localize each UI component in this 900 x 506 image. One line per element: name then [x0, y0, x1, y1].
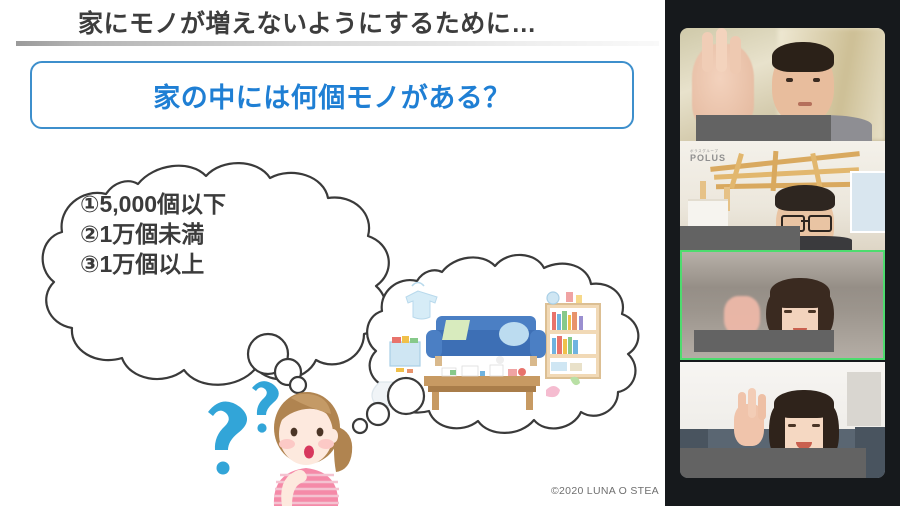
option-3: ③1万個以上	[80, 250, 380, 280]
option-1: ①5,000個以下	[80, 190, 380, 220]
participant-name-redacted	[696, 115, 831, 141]
question-box: 家の中には何個モノがある？	[30, 61, 634, 129]
title-divider	[16, 41, 659, 46]
illustration-ball	[496, 356, 504, 364]
polus-logo: ポラスグループPOLUS	[690, 150, 726, 163]
participant-name-redacted	[680, 226, 800, 250]
participant-name-redacted	[694, 330, 834, 352]
question-text: 家の中には何個モノがある？	[153, 76, 511, 115]
option-2: ②1万個未満	[80, 220, 380, 250]
participant-name-redacted	[680, 448, 866, 478]
video-tile-participant-2[interactable]: ポラスグループPOLUS	[680, 141, 885, 250]
video-tile-participant-4[interactable]	[680, 362, 885, 478]
presentation-slide: 家にモノが増えないようにするために… 家の中には何個モノがある？ ①5,000個…	[0, 0, 665, 506]
illustration-bookshelf	[546, 292, 600, 378]
video-participant-panel: ポラスグループPOLUS	[665, 0, 900, 506]
page-title: 家にモノが増えないようにするために…	[78, 4, 638, 40]
video-tile-participant-3[interactable]	[680, 250, 885, 360]
slide-stage: 家にモノが増えないようにするために… 家の中には何個モノがある？ ①5,000個…	[0, 0, 900, 506]
video-tile-participant-1[interactable]	[680, 28, 885, 141]
question-mark-icon	[208, 381, 279, 474]
copyright-text: ©2020 LUNA O STEA	[551, 485, 659, 497]
options-list: ①5,000個以下 ②1万個未満 ③1万個以上	[80, 190, 380, 280]
thinking-woman-illustration	[196, 372, 366, 506]
